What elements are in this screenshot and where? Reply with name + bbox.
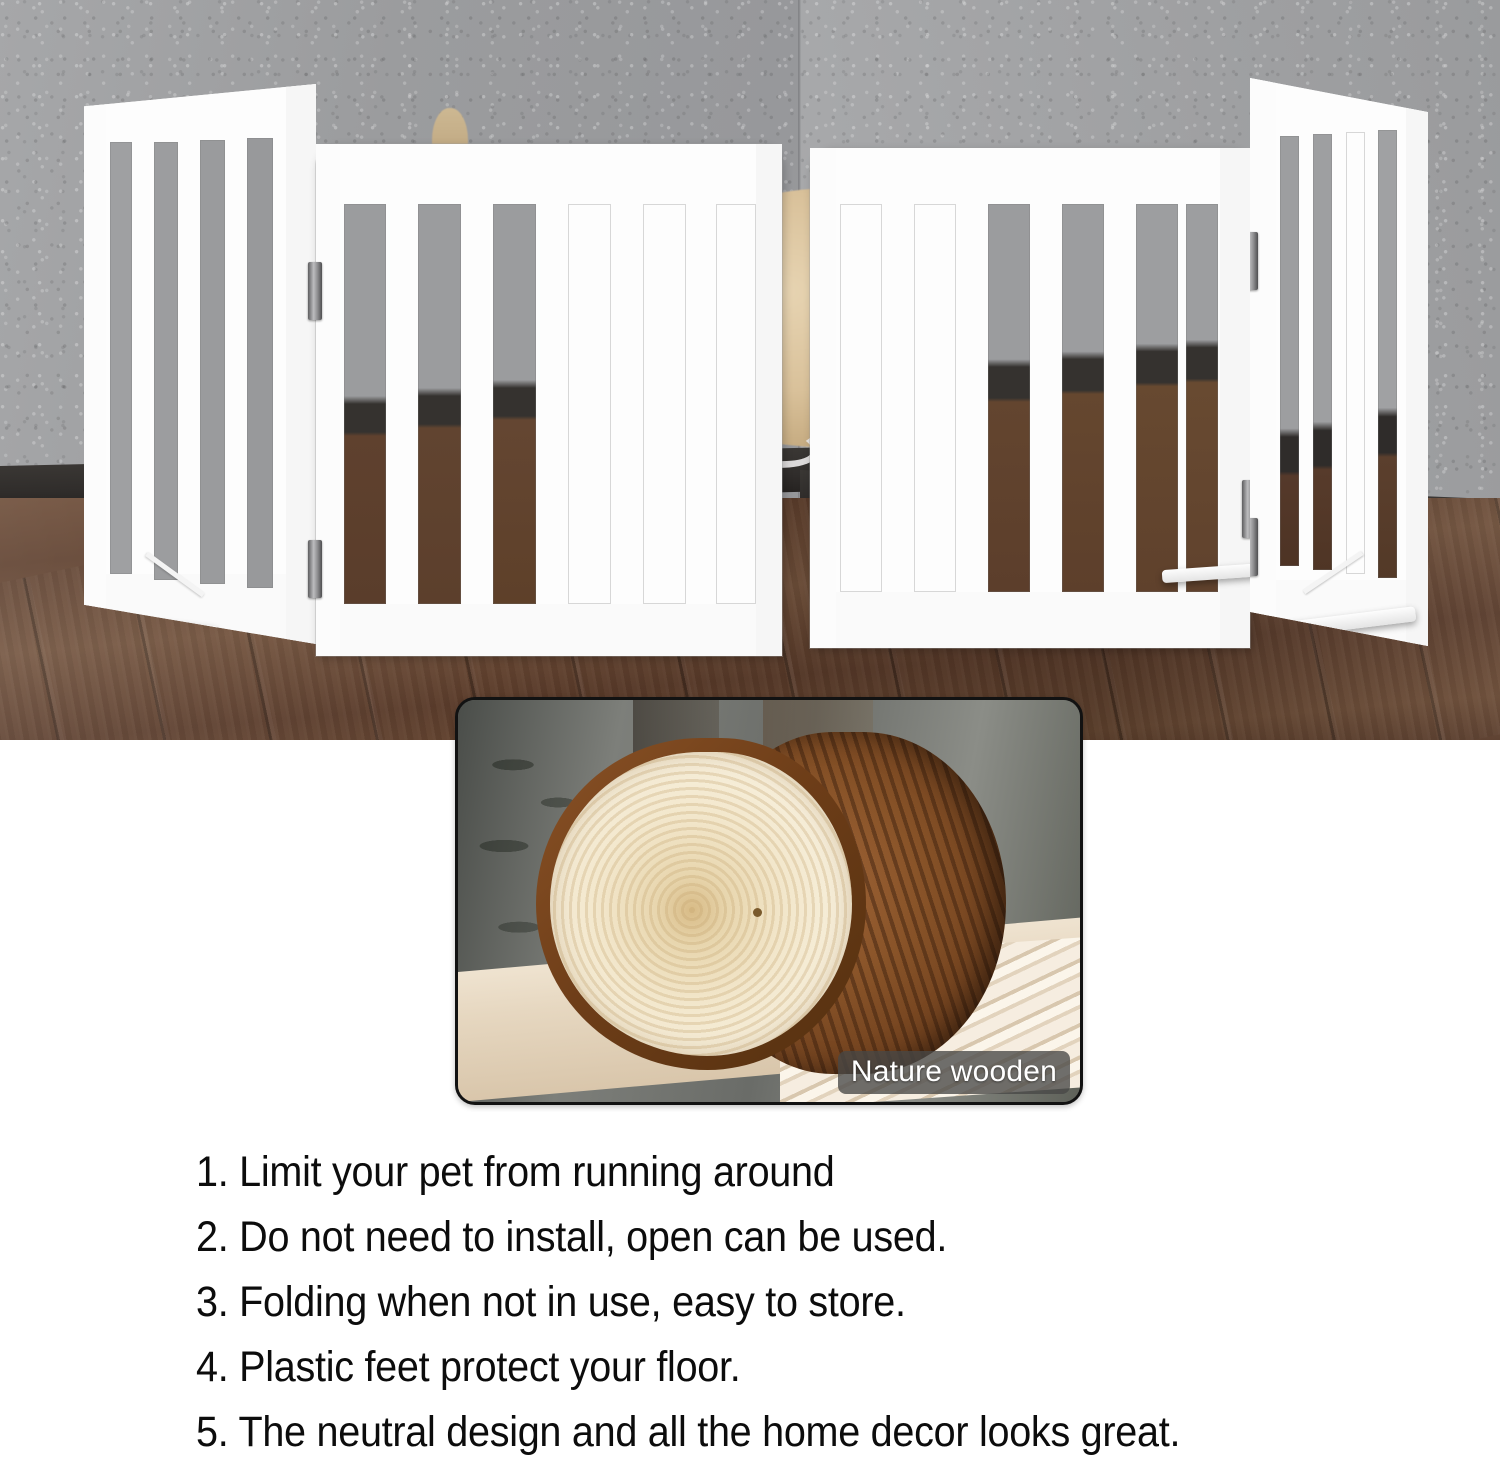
gate-panel-2-opening — [568, 204, 611, 604]
gate-panel-2-top-rail — [316, 144, 782, 202]
feature-item-4: 4. Plastic feet protect your floor. — [196, 1335, 1396, 1400]
gate-panel-3-opening — [1186, 204, 1218, 592]
gate-panel-3-bottom-rail — [810, 592, 1250, 648]
gate-panel-3-top-rail — [810, 148, 1250, 202]
product-marketing-image: Nature wooden 1. Limit your pet from run… — [0, 0, 1500, 1478]
gate-panel-4-opening — [1378, 130, 1397, 578]
gate-panel-3-opening — [914, 204, 956, 592]
gate-panel-2-opening — [493, 204, 536, 604]
gate-panel-2-hinge-bottom — [308, 540, 322, 598]
gate-panel-4-frame — [1250, 78, 1428, 646]
nature-wooden-badge: Nature wooden — [838, 1051, 1070, 1095]
gate-panel-2-hinge-top — [308, 262, 322, 320]
gate-panel-2-right-stile — [756, 144, 782, 656]
gate-panel-3-left-stile — [810, 148, 836, 648]
hero-product-photo — [0, 0, 1500, 740]
gate-panel-3-opening — [840, 204, 882, 592]
gate-panel-1-left-stile — [84, 84, 106, 644]
gate-panel-1-opening — [110, 142, 132, 574]
feature-item-3: 3. Folding when not in use, easy to stor… — [196, 1270, 1396, 1335]
log-pith-center — [753, 908, 762, 917]
gate-panel-2-opening — [344, 204, 386, 604]
log-growth-rings — [550, 752, 852, 1056]
gate-panel-2 — [316, 144, 782, 656]
gate-panel-2-opening — [716, 204, 756, 604]
gate-panel-2-opening — [643, 204, 686, 604]
inset-wood-closeup-photo: Nature wooden — [455, 697, 1083, 1105]
feature-list: 1. Limit your pet from running around 2.… — [0, 1112, 1500, 1478]
gate-panel-3-opening — [1136, 204, 1178, 592]
gate-panel-3-opening — [988, 204, 1030, 592]
gate-panel-1 — [84, 84, 316, 644]
gate-panel-4-opening — [1346, 132, 1365, 574]
gate-panel-1-opening — [247, 138, 273, 588]
log-cross-section — [536, 732, 1006, 1078]
gate-panel-3-opening — [1062, 204, 1104, 592]
gate-panel-1-opening — [154, 142, 178, 580]
feature-item-5: 5. The neutral design and all the home d… — [196, 1400, 1396, 1465]
gate-panel-1-opening — [200, 140, 225, 584]
gate-panel-3 — [810, 148, 1250, 648]
gate-panel-2-opening — [418, 204, 461, 604]
gate-panel-4-opening — [1280, 136, 1299, 566]
feature-item-1: 1. Limit your pet from running around — [196, 1140, 1396, 1205]
gate-panel-4 — [1250, 78, 1428, 646]
gate-panel-4-right-stile — [1406, 78, 1428, 646]
gate-panel-2-bottom-rail — [316, 604, 782, 656]
feature-item-2: 2. Do not need to install, open can be u… — [196, 1205, 1396, 1270]
gate-panel-4-opening — [1313, 134, 1332, 570]
